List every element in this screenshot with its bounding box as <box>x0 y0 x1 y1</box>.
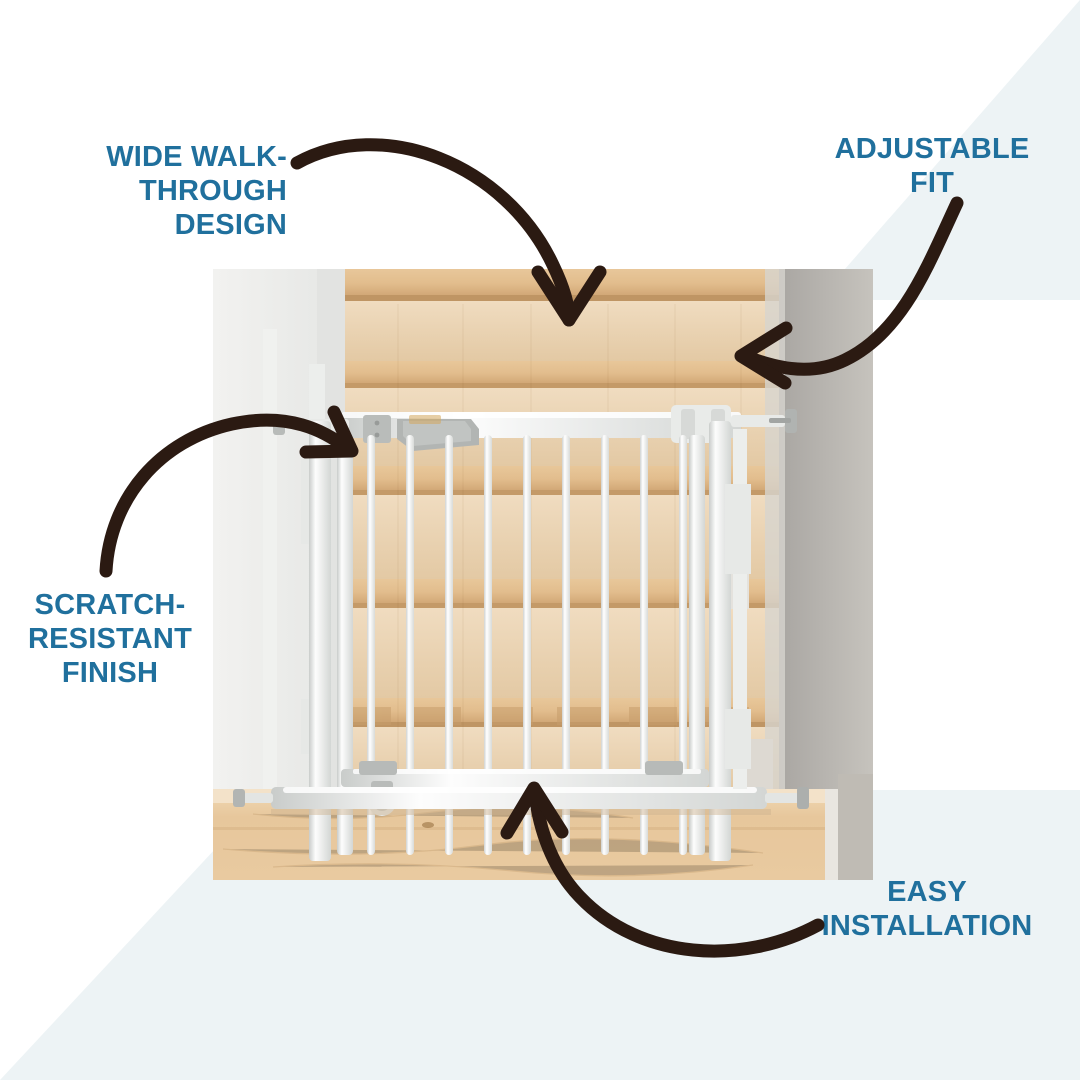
callout-adjustable-fit: ADJUSTABLE FIT <box>812 132 1052 200</box>
product-photo <box>213 269 873 880</box>
product-feature-graphic: WIDE WALK- THROUGH DESIGN ADJUSTABLE FIT… <box>0 0 1080 1080</box>
callout-scratch-resistant-finish: SCRATCH- RESISTANT FINISH <box>6 588 214 691</box>
baby-gate-staircase-illustration <box>213 269 873 880</box>
callout-easy-installation: EASY INSTALLATION <box>802 875 1052 943</box>
callout-wide-walk-through-design: WIDE WALK- THROUGH DESIGN <box>57 140 287 243</box>
